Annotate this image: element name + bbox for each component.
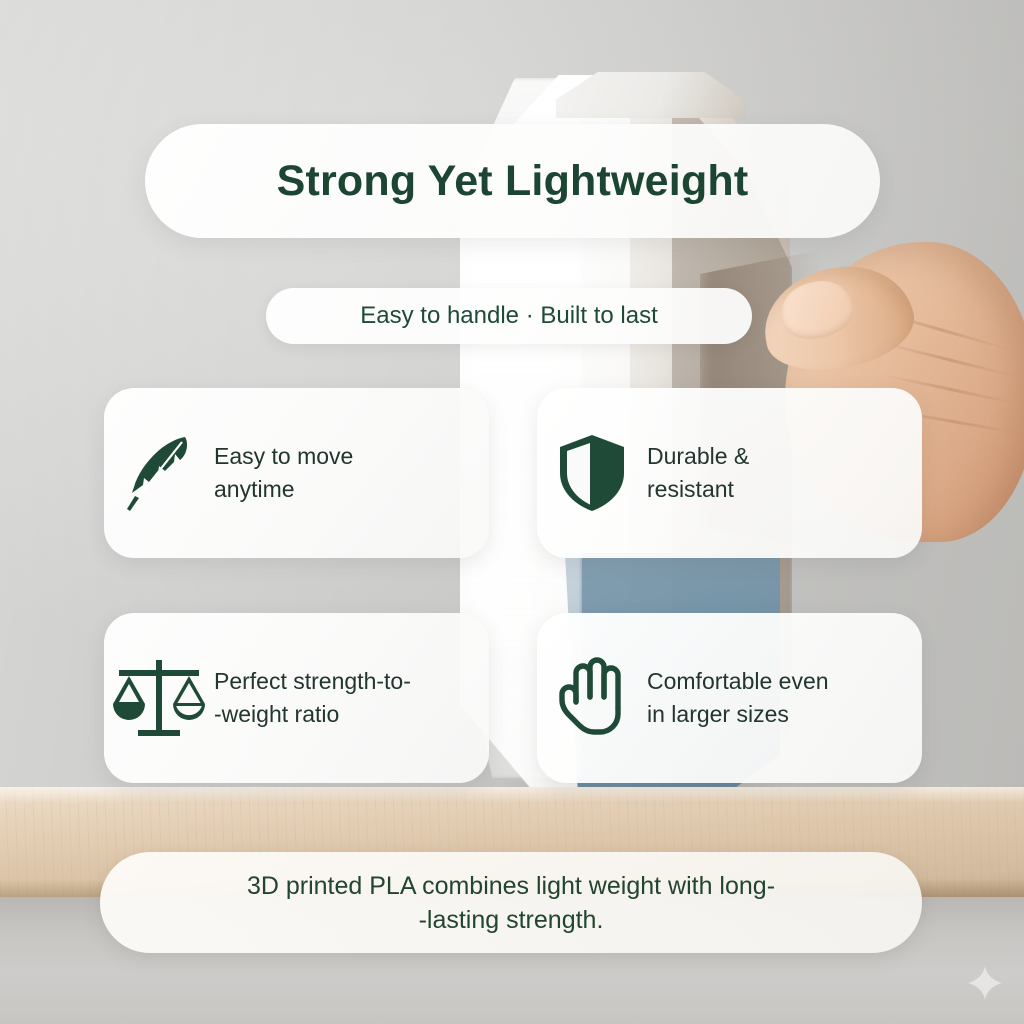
feature-card-durable[interactable]: Durable & resistant — [537, 388, 922, 558]
feature-card-strength-to-weight[interactable]: Perfect strength-to- -weight ratio — [104, 613, 489, 783]
shield-icon — [537, 388, 647, 558]
feature-label: Durable & resistant — [647, 440, 757, 505]
balance-scale-icon — [104, 613, 214, 783]
footer-banner: 3D printed PLA combines light weight wit… — [100, 852, 922, 953]
feature-label: Comfortable even in larger sizes — [647, 665, 837, 730]
infographic-overlay: Strong Yet Lightweight Easy to handle · … — [0, 0, 1024, 1024]
feature-card-comfortable[interactable]: Comfortable even in larger sizes — [537, 613, 922, 783]
sparkle-icon — [968, 966, 1002, 1000]
feature-card-easy-to-move[interactable]: Easy to move anytime — [104, 388, 489, 558]
feature-label: Easy to move anytime — [214, 440, 361, 505]
feather-icon — [104, 388, 214, 558]
feature-label: Perfect strength-to- -weight ratio — [214, 665, 419, 730]
footer-text: 3D printed PLA combines light weight wit… — [247, 869, 775, 937]
open-hand-icon — [537, 613, 647, 783]
